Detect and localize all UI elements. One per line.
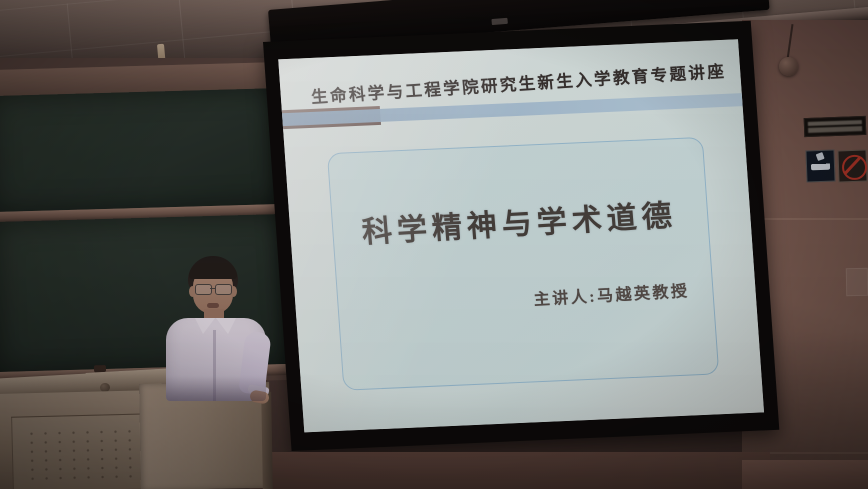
lecture-hall-photo: 生命科学与工程学院研究生新生入学教育专题讲座 科学精神与学术道德 主讲人:马越英… (0, 0, 868, 489)
glasses-lens-right-icon (215, 284, 232, 295)
presentation-slide: 生命科学与工程学院研究生新生入学教育专题讲座 科学精神与学术道德 主讲人:马越英… (278, 39, 764, 432)
blackboard-panel-upper (0, 88, 285, 212)
wall-notice-sign-text (808, 120, 862, 133)
projection-screen-surface: 生命科学与工程学院研究生新生入学教育专题讲座 科学精神与学术道德 主讲人:马越英… (278, 39, 764, 432)
right-wall-seam-upper (756, 218, 868, 220)
wall-speaker-device (779, 57, 798, 76)
slide-content-box (327, 137, 719, 391)
wall-notice-sign (804, 116, 867, 137)
glasses-lens-left-icon (195, 284, 212, 295)
projection-screen-frame: 生命科学与工程学院研究生新生入学教育专题讲座 科学精神与学术道德 主讲人:马越英… (263, 21, 779, 451)
presenter-mouth (207, 303, 219, 308)
podium-speaker-panel (11, 413, 155, 489)
presenter-hair-fringe (189, 263, 237, 279)
wall-paper-notice (846, 268, 868, 296)
screen-case-label (491, 18, 507, 25)
prohibition-circle (842, 155, 868, 181)
presenter-shadow (166, 376, 266, 401)
podium-panel-perforations (24, 427, 137, 484)
equipment-pictogram-icon (805, 150, 835, 183)
podium-front-edge (261, 392, 273, 489)
floor-front-strip (250, 452, 770, 489)
equipment-glyph (811, 159, 830, 171)
presenter-person (160, 256, 272, 401)
prohibition-pictogram-icon (837, 150, 867, 183)
glasses-bridge (210, 288, 215, 289)
floor-right-strip (742, 460, 868, 489)
